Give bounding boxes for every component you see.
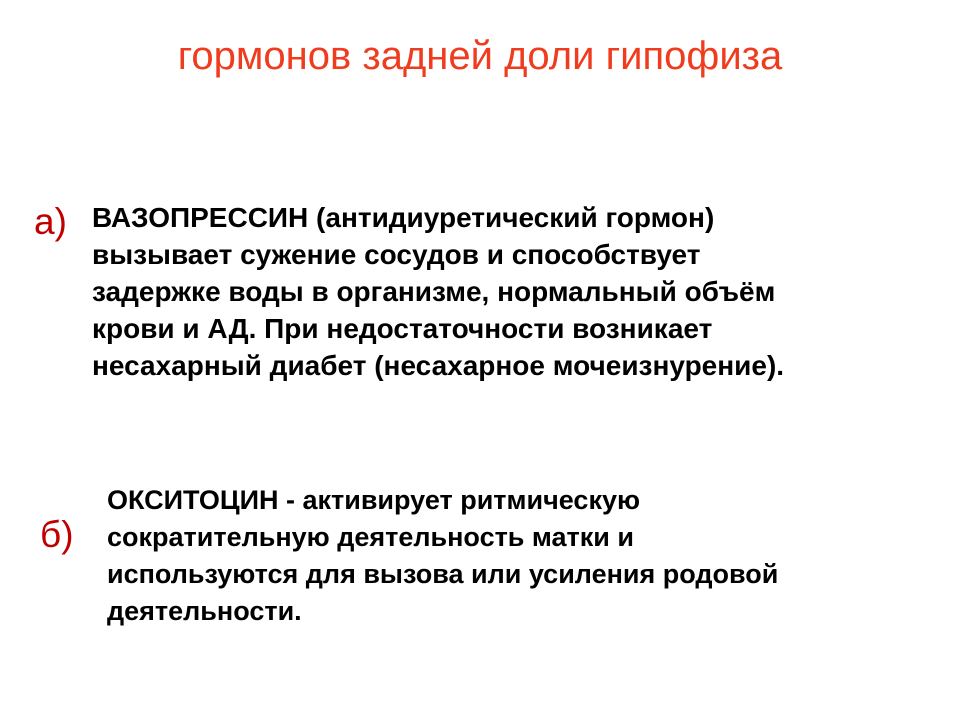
text-line: деятельности. (107, 593, 778, 630)
list-marker-a: а) (34, 203, 67, 240)
text-line: используются для вызова или усиления род… (107, 556, 778, 593)
text-line: вызывает сужение сосудов и способствует (92, 236, 784, 273)
text-line: сократительную деятельность матки и (107, 519, 778, 556)
presentation-slide: гормонов задней доли гипофиза а) ВАЗОПРЕ… (0, 0, 960, 720)
list-marker-b: б) (40, 516, 74, 553)
text-line: ВАЗОПРЕССИН (антидиуретический гормон) (92, 199, 784, 236)
page-title: гормонов задней доли гипофиза (0, 32, 960, 80)
text-line: несахарный диабет (несахарное мочеизнуре… (92, 347, 784, 384)
text-line: ОКСИТОЦИН - активирует ритмическую (107, 482, 778, 519)
text-line: задержке воды в организме, нормальный об… (92, 273, 784, 310)
list-item-b-text: ОКСИТОЦИН - активирует ритмическую сокра… (107, 482, 778, 630)
list-item-a-text: ВАЗОПРЕССИН (антидиуретический гормон) в… (92, 199, 784, 384)
text-line: крови и АД. При недостаточности возникае… (92, 310, 784, 347)
